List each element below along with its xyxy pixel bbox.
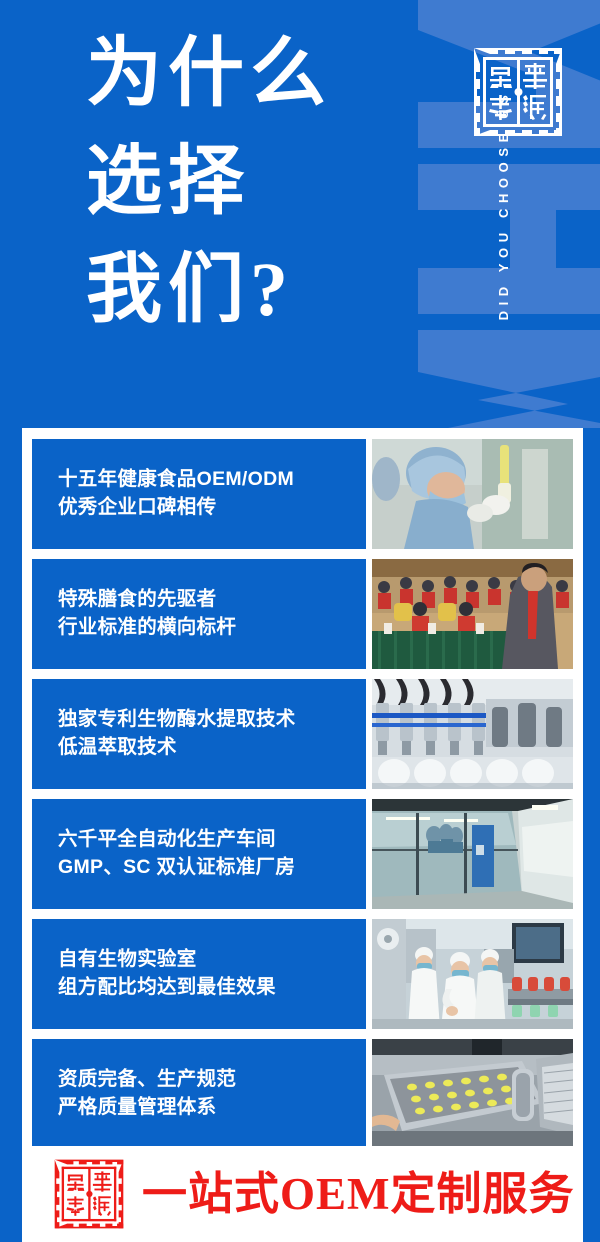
- feature-line-2: 组方配比均达到最佳效果: [58, 974, 366, 1002]
- feature-photo-technicians-in-white-coats-production: [372, 919, 573, 1029]
- feature-card-text: 自有生物实验室 组方配比均达到最佳效果: [32, 919, 366, 1029]
- seal-logo-red-icon: [50, 1155, 128, 1233]
- feature-card-text: 十五年健康食品OEM/ODM 优秀企业口碑相传: [32, 439, 366, 549]
- headline-line-1: 为什么: [86, 36, 396, 112]
- feature-photo-cleanroom-corridor-workshop: [372, 799, 573, 909]
- feature-card-frame: 十五年健康食品OEM/ODM 优秀企业口碑相传: [22, 428, 583, 1242]
- feature-line-2: 优秀企业口碑相传: [58, 494, 366, 522]
- bottom-banner[interactable]: 一站式OEM定制服务: [22, 1146, 583, 1242]
- eyebrow-rotated-wrapper: DID YOU CHOOSE US: [407, 0, 433, 400]
- feature-card[interactable]: 六千平全自动化生产车间 GMP、SC 双认证标准厂房: [32, 799, 573, 909]
- feature-line-2: GMP、SC 双认证标准厂房: [58, 854, 366, 882]
- feature-line-1: 独家专利生物酶水提取技术: [58, 706, 366, 734]
- poster-root: DID YOU CHOOSE US: [0, 0, 600, 1242]
- feature-line-1: 自有生物实验室: [58, 946, 366, 974]
- poster-headline: 为什么 选择 我们?: [86, 36, 396, 328]
- feature-photo-lab-technician-inspecting-sample: [372, 439, 573, 549]
- feature-photo-blister-packing-machine-tablets: [372, 1039, 573, 1149]
- feature-card[interactable]: 独家专利生物酶水提取技术 低温萃取技术: [32, 679, 573, 789]
- feature-line-1: 特殊膳食的先驱者: [58, 586, 366, 614]
- banner-slogan: 一站式OEM定制服务: [142, 1172, 575, 1217]
- feature-card-text: 独家专利生物酶水提取技术 低温萃取技术: [32, 679, 366, 789]
- feature-line-1: 资质完备、生产规范: [58, 1066, 366, 1094]
- headline-line-2: 选择: [86, 144, 396, 220]
- feature-line-1: 十五年健康食品OEM/ODM: [58, 466, 366, 494]
- seal-logo-white-icon: [468, 42, 568, 142]
- feature-line-2: 行业标准的横向标杆: [58, 614, 366, 642]
- headline-line-3: 我们?: [86, 252, 396, 328]
- feature-line-1: 六千平全自动化生产车间: [58, 826, 366, 854]
- feature-card-text: 资质完备、生产规范 严格质量管理体系: [32, 1039, 366, 1149]
- feature-card[interactable]: 十五年健康食品OEM/ODM 优秀企业口碑相传: [32, 439, 573, 549]
- feature-card[interactable]: 特殊膳食的先驱者 行业标准的横向标杆: [32, 559, 573, 669]
- feature-card[interactable]: 资质完备、生产规范 严格质量管理体系: [32, 1039, 573, 1149]
- poster-header: DID YOU CHOOSE US: [0, 0, 600, 428]
- feature-photo-bottling-filling-machine-line: [372, 679, 573, 789]
- feature-line-2: 严格质量管理体系: [58, 1094, 366, 1122]
- feature-photo-conference-audience-presentation: [372, 559, 573, 669]
- feature-card[interactable]: 自有生物实验室 组方配比均达到最佳效果: [32, 919, 573, 1029]
- feature-line-2: 低温萃取技术: [58, 734, 366, 762]
- feature-card-text: 六千平全自动化生产车间 GMP、SC 双认证标准厂房: [32, 799, 366, 909]
- feature-card-text: 特殊膳食的先驱者 行业标准的横向标杆: [32, 559, 366, 669]
